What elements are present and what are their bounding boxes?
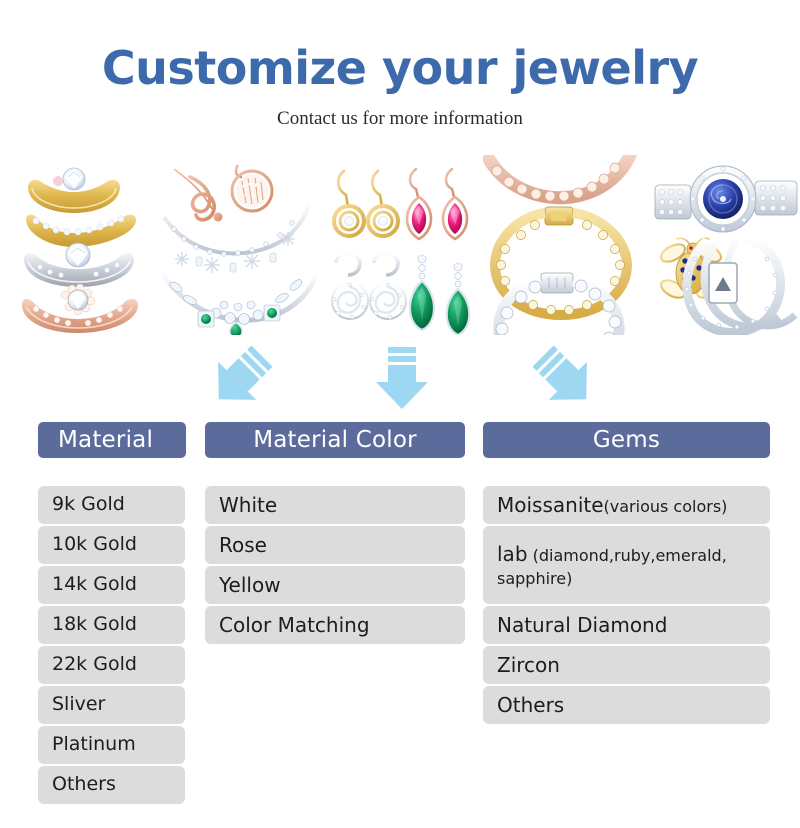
rings-panel bbox=[10, 155, 153, 335]
option-material[interactable]: 18k Gold bbox=[38, 606, 185, 644]
option-gem-main: Natural Diamond bbox=[497, 612, 667, 639]
bracelets-panel bbox=[483, 155, 641, 335]
page-subtitle: Contact us for more information bbox=[0, 108, 800, 130]
header-gems[interactable]: Gems bbox=[483, 422, 770, 458]
material-options: 9k Gold 10k Gold 14k Gold 18k Gold 22k G… bbox=[38, 486, 185, 806]
gems-options: Moissanite(various colors) lab (diamond,… bbox=[483, 486, 770, 726]
option-material[interactable]: Platinum bbox=[38, 726, 185, 764]
option-gem-detail-line2: sapphire) bbox=[497, 568, 727, 590]
option-gem-detail: (various colors) bbox=[604, 497, 728, 516]
option-material[interactable]: 14k Gold bbox=[38, 566, 185, 604]
necklaces-panel bbox=[160, 155, 317, 335]
arrow-down-left-icon bbox=[520, 345, 610, 411]
option-material[interactable]: Others bbox=[38, 766, 185, 804]
option-material[interactable]: 22k Gold bbox=[38, 646, 185, 684]
option-columns: 9k Gold 10k Gold 14k Gold 18k Gold 22k G… bbox=[0, 486, 800, 806]
option-gem-main: Zircon bbox=[497, 652, 560, 679]
option-gem[interactable]: Others bbox=[483, 686, 770, 724]
option-gem[interactable]: Moissanite(various colors) bbox=[483, 486, 770, 524]
option-gem[interactable]: lab (diamond,ruby,emerald,sapphire) bbox=[483, 526, 770, 604]
earrings-panel bbox=[326, 155, 476, 335]
option-material-color[interactable]: Color Matching bbox=[205, 606, 465, 644]
option-gem-detail: (diamond,ruby,emerald, bbox=[528, 546, 727, 565]
option-material-color[interactable]: White bbox=[205, 486, 465, 524]
watches-panel bbox=[651, 155, 800, 335]
option-material[interactable]: 10k Gold bbox=[38, 526, 185, 564]
material-color-options: White Rose Yellow Color Matching bbox=[205, 486, 465, 646]
option-gem[interactable]: Zircon bbox=[483, 646, 770, 684]
option-material[interactable]: 9k Gold bbox=[38, 486, 185, 524]
header-material[interactable]: Material bbox=[38, 422, 186, 458]
page-title: Customize your jewelry bbox=[0, 44, 800, 92]
option-gem-main: Others bbox=[497, 692, 564, 719]
option-gem-main: lab bbox=[497, 542, 528, 566]
option-material-color[interactable]: Yellow bbox=[205, 566, 465, 604]
column-headers: Material Material Color Gems bbox=[0, 422, 800, 458]
jewelry-gallery bbox=[0, 155, 800, 335]
arrow-down-right-icon bbox=[195, 345, 285, 411]
customize-jewelry-page: Customize your jewelry Contact us for mo… bbox=[0, 0, 800, 828]
option-material[interactable]: Sliver bbox=[38, 686, 185, 724]
option-gem-main: Moissanite bbox=[497, 493, 604, 517]
arrow-row bbox=[0, 345, 800, 411]
arrow-down-icon bbox=[357, 345, 447, 411]
header-material-color[interactable]: Material Color bbox=[205, 422, 465, 458]
option-gem[interactable]: Natural Diamond bbox=[483, 606, 770, 644]
option-material-color[interactable]: Rose bbox=[205, 526, 465, 564]
